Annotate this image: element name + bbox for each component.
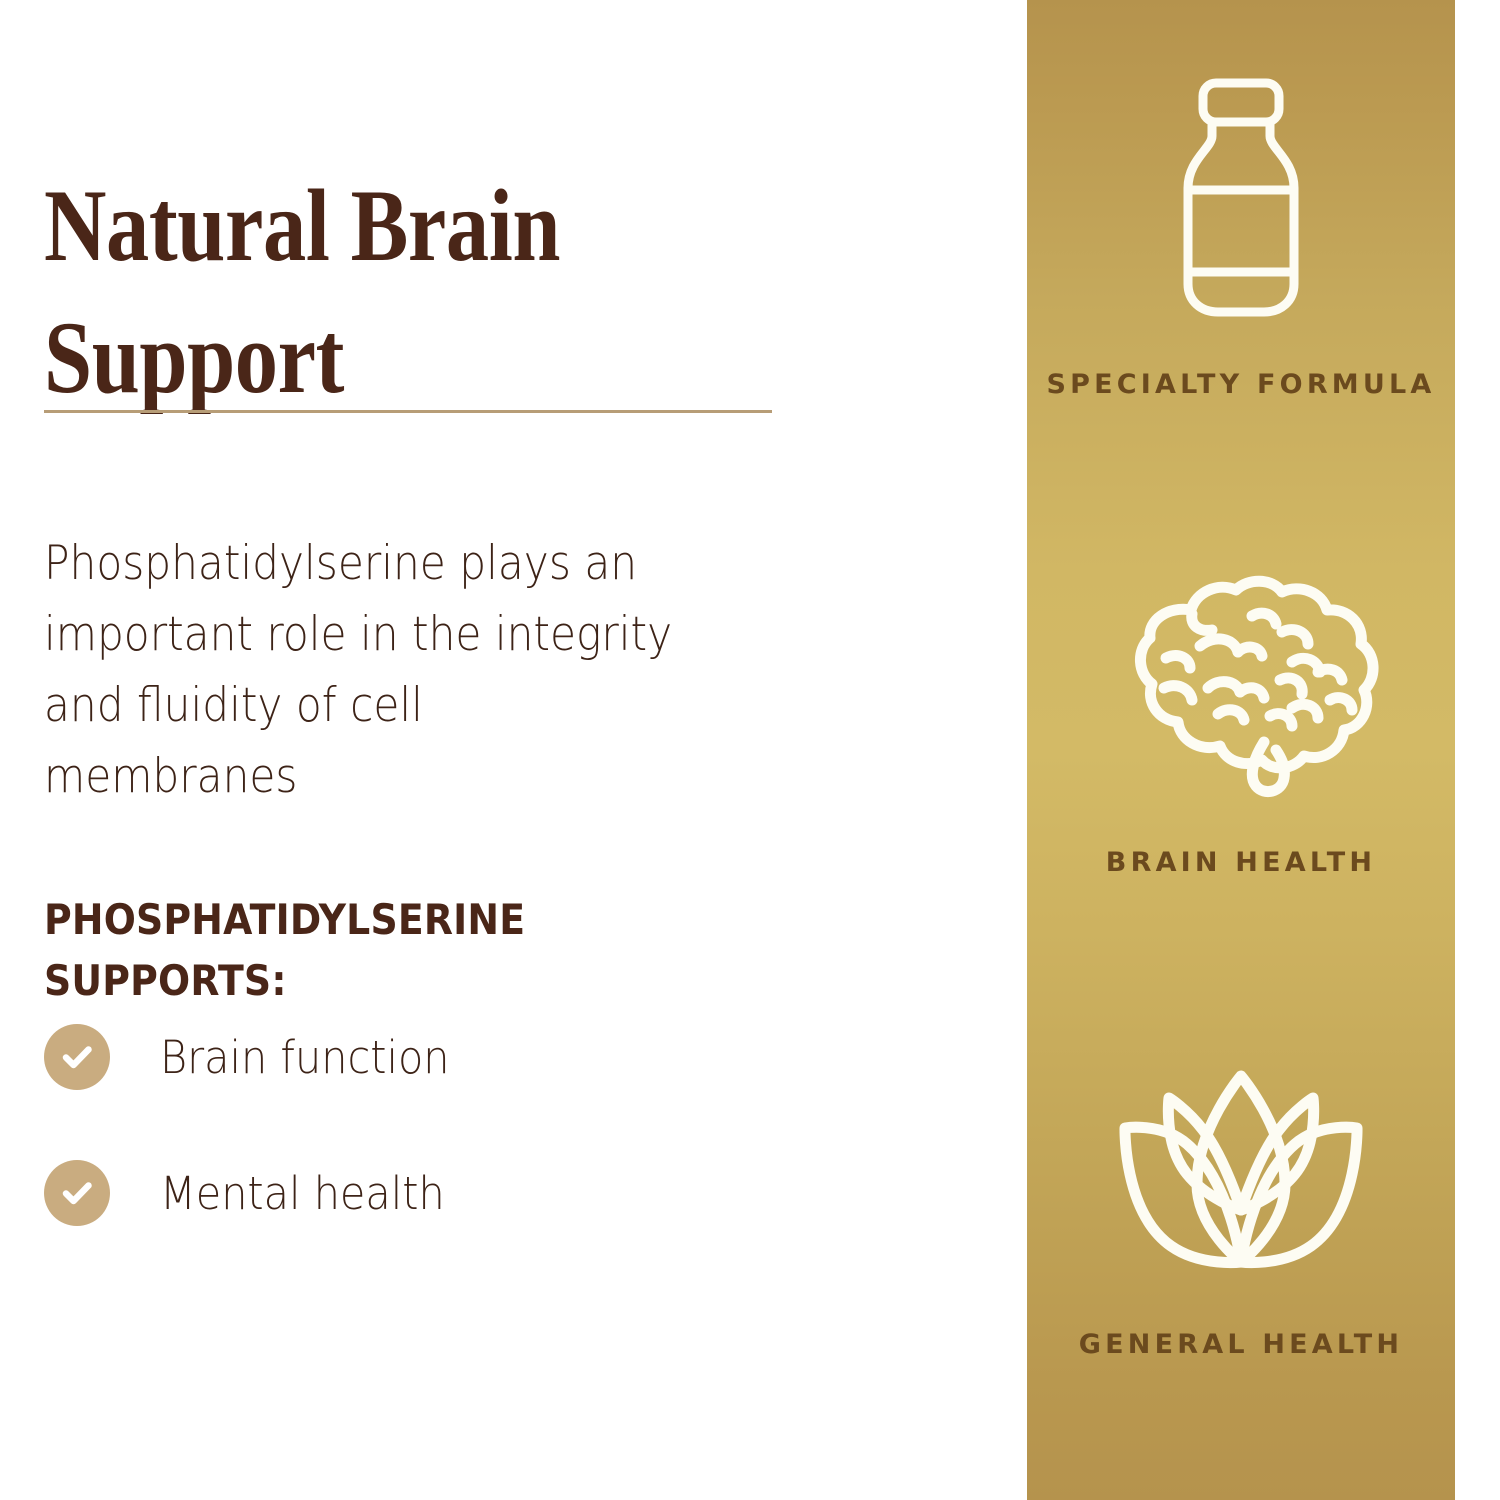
list-item-label: Brain function — [160, 1035, 450, 1080]
feature-label: SPECIALTY FORMULA — [1046, 360, 1435, 410]
feature-label: BRAIN HEALTH — [1106, 838, 1376, 888]
feature-general-health: GENERAL HEALTH — [1027, 1062, 1455, 1370]
supports-heading: PHOSPHATIDYLSERINE SUPPORTS: — [44, 890, 692, 1012]
check-icon — [44, 1160, 110, 1226]
left-content-column: Natural Brain Support Phosphatidylserine… — [0, 0, 1005, 1500]
lotus-flower-icon — [1091, 1062, 1391, 1282]
check-icon — [44, 1024, 110, 1090]
feature-specialty-formula: SPECIALTY FORMULA — [1027, 72, 1455, 410]
feature-label: GENERAL HEALTH — [1079, 1320, 1403, 1370]
list-item-label: Mental health — [160, 1171, 445, 1216]
list-item: Brain function — [44, 1020, 804, 1094]
page-title: Natural Brain Support — [44, 161, 666, 425]
list-item: Mental health — [44, 1156, 804, 1230]
product-benefits-infographic: Natural Brain Support Phosphatidylserine… — [0, 0, 1500, 1500]
feature-badges-panel: SPECIALTY FORMULA — [1027, 0, 1455, 1500]
benefits-list: Brain function Mental health — [44, 1020, 804, 1292]
feature-brain-health: BRAIN HEALTH — [1027, 570, 1455, 888]
description-paragraph: Phosphatidylserine plays an important ro… — [44, 529, 674, 813]
title-divider-rule — [44, 410, 772, 413]
supplement-bottle-icon — [1152, 72, 1330, 322]
brain-icon — [1096, 570, 1386, 800]
